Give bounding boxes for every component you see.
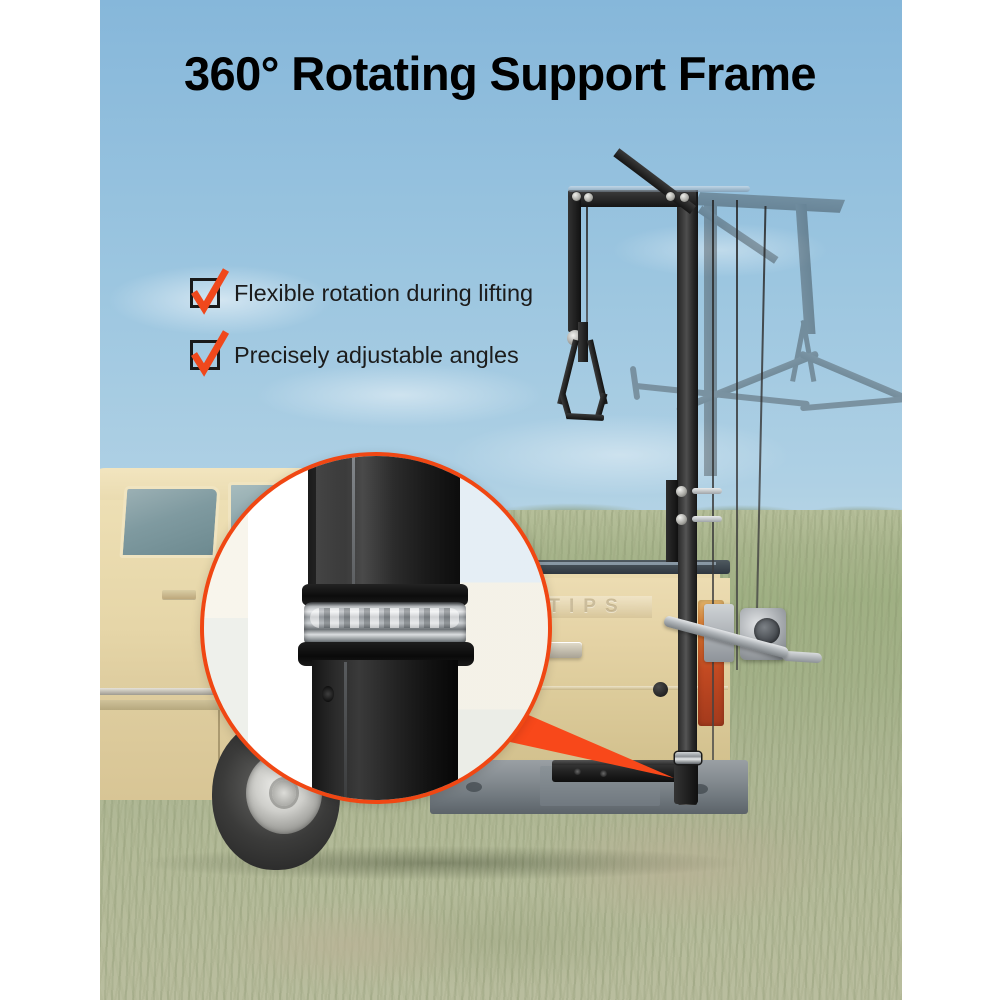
feature-label: Precisely adjustable angles: [234, 342, 519, 369]
hitch-pin-hole: [574, 768, 581, 775]
height-adjust-pin-head: [676, 514, 687, 525]
hitch-corner-gusset: [674, 762, 698, 804]
feature-list: Flexible rotation during lifting Precise…: [190, 272, 610, 396]
magnified-background-left: [204, 456, 248, 804]
feature-label: Flexible rotation during lifting: [234, 280, 533, 307]
magnified-ball-bearings: [310, 608, 460, 628]
magnified-lower-tube-edge: [344, 662, 347, 804]
product-marketing-image: GRIP TIPS: [0, 0, 1000, 1000]
feature-item: Precisely adjustable angles: [190, 334, 610, 376]
feature-item: Flexible rotation during lifting: [190, 272, 610, 314]
magnified-background-truck: [454, 456, 552, 804]
lift-cable: [755, 206, 766, 636]
hitch-receiver-bar: [552, 762, 692, 782]
magnifier-detail-circle: [200, 452, 552, 804]
lift-cable: [736, 200, 738, 670]
page-title: 360° Rotating Support Frame: [0, 48, 1000, 101]
height-adjust-pin-head: [676, 486, 687, 497]
lift-hook-crossbar: [566, 413, 604, 421]
boom-bolt: [680, 193, 689, 202]
magnified-pin-hole: [322, 686, 334, 702]
mast-upper-section: [677, 190, 698, 490]
base-rotation-bearing: [675, 752, 701, 764]
hitch-pin-hole: [600, 770, 607, 777]
height-adjust-pin: [692, 516, 722, 522]
checkbox-check-icon: [190, 278, 220, 308]
boom-bolt: [584, 193, 593, 202]
height-adjust-pin: [692, 488, 722, 494]
boom-bolt: [666, 192, 675, 201]
magnified-lower-tube: [312, 660, 458, 804]
checkbox-check-icon: [190, 340, 220, 370]
boom-bolt: [572, 192, 581, 201]
lift-cable: [712, 200, 714, 760]
hitch-receiver-bar-top: [552, 760, 692, 765]
winch-crank-knob: [653, 682, 668, 697]
magnified-bearing-detail: [204, 456, 548, 800]
